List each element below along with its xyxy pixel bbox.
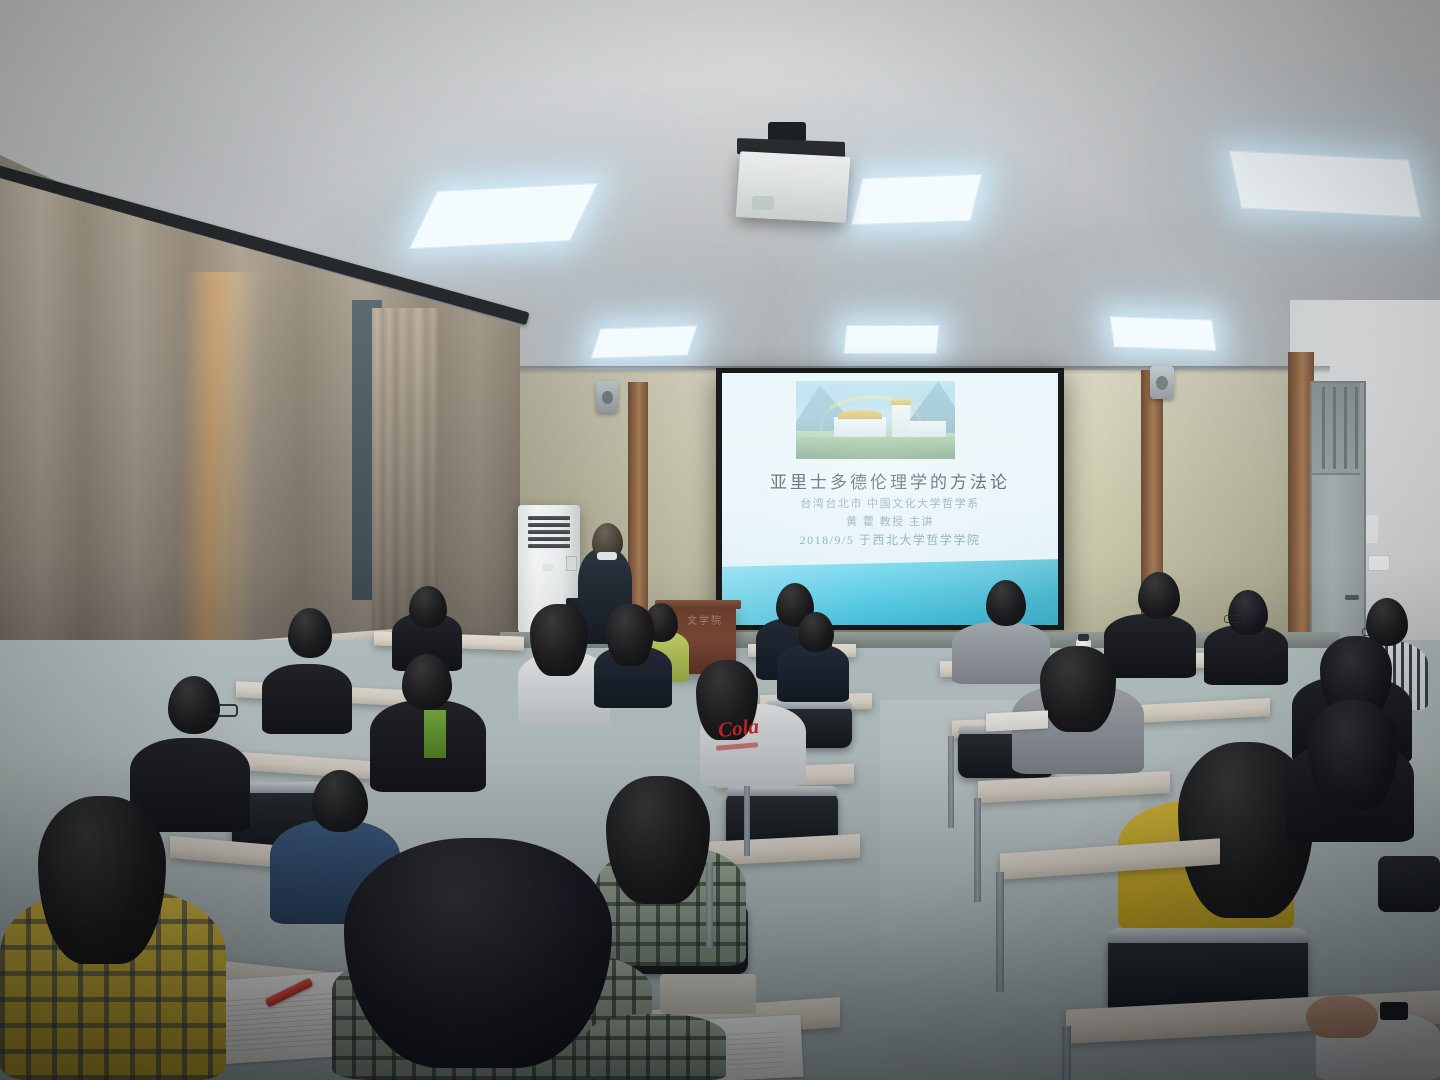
ac-logo-icon bbox=[543, 564, 553, 571]
speaker-left-cone-icon bbox=[602, 391, 613, 404]
speaker-right-cone-icon bbox=[1156, 376, 1168, 390]
led-panel-6 bbox=[1110, 316, 1217, 351]
door-transom-bar bbox=[1355, 387, 1358, 469]
tote-bag[interactable] bbox=[660, 974, 756, 1014]
audience-body bbox=[952, 622, 1050, 684]
classroom-scene: 亚里士多德伦理学的方法论 台湾台北市 中国文化大学哲学系 黄 藿 教授 主讲 2… bbox=[0, 0, 1440, 1080]
audience-body-foreground bbox=[586, 1014, 726, 1080]
eyeglasses-icon bbox=[208, 704, 238, 717]
door-transom-bar bbox=[1333, 387, 1336, 469]
notebook[interactable] bbox=[986, 710, 1048, 731]
led-panel-2 bbox=[851, 174, 983, 225]
projector-lens bbox=[752, 196, 774, 210]
led-panel-4 bbox=[591, 325, 698, 358]
audience-body bbox=[777, 644, 849, 702]
ac-display-panel bbox=[566, 556, 577, 571]
ac-vent-slat bbox=[528, 523, 570, 527]
audience-hair-long bbox=[1308, 700, 1398, 810]
desk-leg bbox=[948, 736, 954, 828]
eyeglasses-icon bbox=[1362, 628, 1382, 636]
shirt-print-cola: Cola bbox=[717, 714, 760, 743]
audience-hair-long bbox=[344, 838, 612, 1068]
door-transom-bar bbox=[1344, 387, 1347, 469]
audience-hair-long bbox=[530, 604, 588, 676]
audience-head bbox=[288, 608, 332, 658]
chair-backrail bbox=[726, 786, 838, 796]
audience-head bbox=[1138, 572, 1180, 619]
audience-hair-long bbox=[606, 604, 654, 666]
desk-leg bbox=[996, 872, 1004, 992]
presenter-collar bbox=[597, 552, 617, 560]
lanyard bbox=[424, 710, 446, 758]
led-panel-5 bbox=[843, 325, 939, 354]
ac-vent-slat bbox=[528, 537, 570, 541]
desk-leg bbox=[706, 862, 713, 948]
ac-vent-slat bbox=[528, 530, 570, 534]
audience-body bbox=[262, 664, 352, 734]
chair-backrail bbox=[1108, 928, 1308, 943]
door-handle[interactable] bbox=[1345, 595, 1359, 600]
audience-head bbox=[312, 770, 368, 832]
audience-head bbox=[986, 580, 1026, 626]
audience-hair-long bbox=[606, 776, 710, 904]
audience-hair-long bbox=[1040, 646, 1116, 732]
audience-hair-long bbox=[38, 796, 166, 964]
led-panel-1 bbox=[409, 183, 598, 249]
eyeglasses-icon bbox=[1224, 615, 1244, 623]
audience-head bbox=[409, 586, 447, 628]
phone[interactable] bbox=[1380, 1002, 1408, 1020]
desk-leg bbox=[974, 798, 981, 902]
audience-head bbox=[798, 612, 834, 652]
light-switch-plate[interactable] bbox=[1368, 555, 1390, 571]
audience-body bbox=[1104, 614, 1196, 678]
desk-leg bbox=[744, 786, 750, 856]
ac-vent-slat bbox=[528, 516, 570, 520]
door-transom-bar bbox=[1322, 387, 1325, 469]
desk-leg bbox=[1062, 1026, 1071, 1080]
ac-vent-slat bbox=[528, 544, 570, 548]
audience-head bbox=[402, 654, 452, 710]
led-panel-3 bbox=[1229, 150, 1421, 217]
wall-notice bbox=[1366, 515, 1378, 543]
bottle-cap bbox=[1078, 634, 1089, 641]
door-transom-window bbox=[1312, 383, 1360, 475]
hand bbox=[1306, 996, 1378, 1038]
projector-body bbox=[736, 151, 851, 223]
audience-head bbox=[1228, 590, 1268, 635]
lectern-label: 文学院 bbox=[682, 612, 728, 627]
backpack[interactable] bbox=[1378, 856, 1440, 912]
